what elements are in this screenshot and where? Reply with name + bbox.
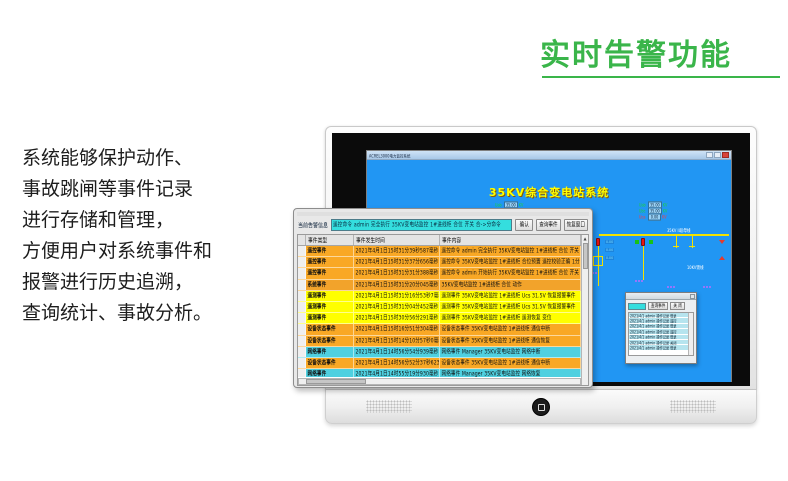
cell-event-content: 遥控命令 35KV变电站监控 1#进线柜 合位预置 遥控校验正确 1分 <box>440 257 581 267</box>
col3-label: 事件内容 <box>442 235 461 244</box>
busbar-label-2: 35KV II段母线 <box>667 228 690 235</box>
circuit-breaker-closed[interactable] <box>596 238 600 246</box>
cell-event-time: 2021年4月1日15时31分37分656毫秒 <box>354 257 440 267</box>
dialog-close-button[interactable]: 关 闭 <box>670 302 684 310</box>
column-header-content[interactable]: 事件内容 <box>440 235 581 245</box>
confirm-label: 确认 <box>520 221 529 229</box>
cell-event-time: 2021年4月1日15时31分31分388毫秒 <box>354 268 440 278</box>
operation-log-dialog: 查询事件 关 闭 2021/4/1 admin 操作记录 登录 2021/4/1… <box>625 292 697 364</box>
cell-event-type: 设备状态事件 <box>306 358 354 368</box>
alarm-toolbar-label: 当前告警信息 <box>298 221 328 230</box>
cell-event-time-text: 2021年4月1日15时31分04分452毫秒 <box>356 303 439 311</box>
cell-event-type-text: 遥测事件 <box>308 303 327 311</box>
dialog-query-button[interactable]: 查询事件 <box>648 302 668 310</box>
description-line: 方便用户对系统事件和 <box>22 236 290 267</box>
table-row[interactable]: 设备状态事件2021年4月1日14时56分52分37秒623毫秒设备状态事件 3… <box>298 358 581 369</box>
current-alarm-field[interactable]: 遥控命令 admin 完全执行 35KV变电站监控 1#进线柜 合位 开关 合-… <box>331 219 512 231</box>
cell-event-content: 遥测事件 35KV变电站监控 1#进线柜 遥测恢复 变位 <box>440 313 581 323</box>
cell-event-type-text: 设备状态事件 <box>308 337 336 345</box>
event-table-vscrollbar[interactable]: ▲ <box>581 235 588 385</box>
vscroll-thumb[interactable] <box>583 243 588 269</box>
cell-event-time: 2021年4月1日15时31分39秒587毫秒 <box>354 246 440 256</box>
busbar-section-2 <box>599 234 729 236</box>
monitor-bottom-bezel <box>325 390 757 424</box>
dialog-filter-input[interactable] <box>628 303 646 310</box>
cell-event-type: 遥测事件 <box>306 302 354 312</box>
dialog-query-label: 查询事件 <box>651 303 665 310</box>
switch-state-green <box>649 240 653 244</box>
confirm-button[interactable]: 确认 <box>515 219 533 231</box>
cell-event-time: 2021年4月1日15时31分20分045毫秒 <box>354 280 440 290</box>
event-table: 事件类型 事件发生时间 事件内容 遥控事件2021年4月1日15时31分39秒5… <box>297 234 589 386</box>
cell-event-content-text: 遥测事件 35KV变电站监控 1#进线柜 Ucs 31.5V 恢复报警事件 <box>442 303 576 311</box>
row-marker <box>298 369 306 377</box>
cell-event-type-text: 遥控事件 <box>308 258 327 266</box>
description-text: 系统能够保护动作、 事故跳闸等事件记录 进行存储和管理， 方便用户对系统事件和 … <box>22 143 290 329</box>
cell-event-type-text: 遥控事件 <box>308 247 327 255</box>
cell-event-type-text: 网络事件 <box>308 370 327 377</box>
alarm-event-window: 当前告警信息 遥控命令 admin 完全执行 35KV变电站监控 1#进线柜 合… <box>293 208 593 388</box>
description-line: 进行存储和管理， <box>22 205 290 236</box>
description-line: 事故跳闸等事件记录 <box>22 174 290 205</box>
home-button[interactable] <box>532 398 550 416</box>
tie-line <box>598 246 599 286</box>
cell-event-time: 2021年4月1日14时56分54分939毫秒 <box>354 347 440 357</box>
row-marker <box>298 257 306 267</box>
dialog-log-rows: 2021/4/1 admin 操作记录 登录 2021/4/1 admin 操作… <box>629 313 688 355</box>
circuit-breaker-closed[interactable] <box>641 238 645 246</box>
cell-event-content: 网络事件 Manager 35KV变电站监控 网络恢复 <box>440 369 581 377</box>
alarm-toolbar: 当前告警信息 遥控命令 admin 完全执行 35KV变电站监控 1#进线柜 合… <box>297 218 589 232</box>
restore-window-button[interactable]: 恢复窗口 <box>564 219 588 231</box>
row-marker <box>298 347 306 357</box>
cell-event-time: 2021年4月1日15时14分10分57秒0毫秒 <box>354 336 440 346</box>
restore-window-label: 恢复窗口 <box>567 221 585 229</box>
cell-event-time-text: 2021年4月1日15时16分51分304毫秒 <box>356 325 439 333</box>
column-header-marker <box>298 235 306 245</box>
voltage-value: 0.00 <box>648 213 661 221</box>
row-marker <box>298 324 306 334</box>
close-icon[interactable] <box>722 152 729 158</box>
row-marker <box>298 246 306 256</box>
table-row[interactable]: 网络事件2021年4月1日14时56分54分939毫秒网络事件 Manager … <box>298 347 581 358</box>
voltage-name: Uab <box>495 202 504 207</box>
voltage-group-right: Uab 35.00 KV Ubc 35.00 KV Uca 0.00 K <box>639 202 667 220</box>
cell-event-content: 设备状态事件 35KV变电站监控 1#进线柜 通信中断 <box>440 324 581 334</box>
description-line: 系统能够保护动作、 <box>22 143 290 174</box>
cell-event-type: 系统事件 <box>306 280 354 290</box>
diagram-title: 35KV综合变电站系统 <box>367 184 731 200</box>
scada-window-title: ACREL3000电力监控系统 <box>369 152 706 158</box>
cell-event-content-text: 遥控命令 admin 完全执行 35KV变电站监控 1#进线柜 合位 开关 <box>442 247 580 255</box>
table-row[interactable]: 遥测事件2021年4月1日15时31分04分452毫秒遥测事件 35KV变电站监… <box>298 302 581 313</box>
row-marker <box>298 302 306 312</box>
cell-event-content-text: 遥控命令 35KV变电站监控 1#进线柜 合位预置 遥控校验正确 1分 <box>442 258 580 266</box>
cell-event-content-text: 网络事件 Manager 35KV变电站监控 网络恢复 <box>442 370 541 377</box>
voltage-name: Uab <box>639 202 648 207</box>
cell-event-content: 设备状态事件 35KV变电站监控 1#进线柜 通信恢复 <box>440 336 581 346</box>
voltage-name: Uca <box>639 214 648 219</box>
cell-event-time: 2021年4月1日15时31分16分53秒7毫秒 <box>354 291 440 301</box>
cell-event-time-text: 2021年4月1日14时55分19分930毫秒 <box>356 370 439 377</box>
voltage-unit: KV <box>662 214 667 219</box>
busbar-label-3: 10KV馈线 <box>687 265 704 272</box>
slide-canvas: 实时告警功能 系统能够保护动作、 事故跳闸等事件记录 进行存储和管理， 方便用户… <box>0 0 788 481</box>
cell-event-content: 遥测事件 35KV变电站监控 1#进线柜 Ucs 31.5V 恢复报警事件 <box>440 302 581 312</box>
cell-event-time-text: 2021年4月1日15时31分20分045毫秒 <box>356 281 439 289</box>
ct-group-icon <box>703 286 711 288</box>
cell-event-type-text: 遥测事件 <box>308 292 327 300</box>
cell-event-time-text: 2021年4月1日15时31分37分656毫秒 <box>356 258 439 266</box>
cell-event-content-text: 遥测事件 35KV变电站监控 1#进线柜 遥测恢复 变位 <box>442 314 552 322</box>
dialog-close-icon[interactable] <box>690 294 695 299</box>
table-row[interactable]: 设备状态事件2021年4月1日15时16分51分304毫秒设备状态事件 35KV… <box>298 324 581 335</box>
cell-event-type-text: 设备状态事件 <box>308 325 336 333</box>
row-marker <box>298 268 306 278</box>
dialog-close-label: 关 闭 <box>673 303 681 310</box>
ct-group-icon <box>667 286 675 288</box>
window-controls[interactable] <box>706 152 729 158</box>
cell-event-time: 2021年4月1日15时31分04分452毫秒 <box>354 302 440 312</box>
cell-event-time-text: 2021年4月1日15时14分10分57秒0毫秒 <box>356 337 441 345</box>
voltage-unit: KV <box>663 208 668 213</box>
maximize-icon[interactable] <box>714 152 721 158</box>
feeder-line <box>676 234 677 248</box>
cell-event-time-text: 2021年4月1日15时31分16分53秒7毫秒 <box>356 292 441 300</box>
transformer-winding <box>593 256 603 266</box>
cell-event-type-text: 设备状态事件 <box>308 359 336 367</box>
meter-readout: 0.00 <box>605 256 614 260</box>
cell-event-type-text: 网络事件 <box>308 348 327 356</box>
cell-event-content: 遥控命令 admin 开始执行 35KV变电站监控 1#进线柜 合位 开关 <box>440 268 581 278</box>
cell-event-type: 网络事件 <box>306 347 354 357</box>
cell-event-time-text: 2021年4月1日14时56分52分37秒623毫秒 <box>356 359 441 367</box>
cell-event-type: 遥控事件 <box>306 268 354 278</box>
meter-readout: 0.00 <box>605 240 614 244</box>
cell-event-type: 设备状态事件 <box>306 336 354 346</box>
cell-event-type: 遥测事件 <box>306 291 354 301</box>
cell-event-content: 遥测事件 35KV变电站监控 1#进线柜 Ucs 31.5V 恢复报警事件 <box>440 291 581 301</box>
cell-event-content-text: 网络事件 Manager 35KV变电站监控 网络中断 <box>442 348 541 356</box>
table-row[interactable]: 遥控事件2021年4月1日15时31分31分388毫秒遥控命令 admin 开始… <box>298 268 581 279</box>
cell-event-type: 遥控事件 <box>306 246 354 256</box>
row-marker <box>298 358 306 368</box>
current-alarm-text: 遥控命令 admin 完全执行 35KV变电站监控 1#进线柜 合位 开关 合-… <box>333 221 501 229</box>
cell-event-content-text: 35KV变电站监控 1#进线柜 合位 动作 <box>442 281 522 289</box>
cell-event-content: 设备状态事件 35KV变电站监控 1#进线柜 通信中断 <box>440 358 581 368</box>
cell-event-time: 2021年4月1日15时16分51分304毫秒 <box>354 324 440 334</box>
cell-event-type-text: 遥测事件 <box>308 314 327 322</box>
cell-event-content-text: 设备状态事件 35KV变电站监控 1#进线柜 通信中断 <box>442 325 551 333</box>
cell-event-time-text: 2021年4月1日15时31分39秒587毫秒 <box>356 247 439 255</box>
cell-event-time-text: 2021年4月1日14时56分54分939毫秒 <box>356 348 439 356</box>
feeder-line <box>692 234 693 248</box>
cell-event-type: 遥测事件 <box>306 313 354 323</box>
table-row[interactable]: 网络事件2021年4月1日14时55分19分930毫秒网络事件 Manager … <box>298 369 581 377</box>
cell-event-time-text: 2021年4月1日15时30分56分291毫秒 <box>356 314 439 322</box>
table-row[interactable]: 系统事件2021年4月1日15时31分20分045毫秒35KV变电站监控 1#进… <box>298 280 581 291</box>
page-title: 实时告警功能 <box>540 30 732 74</box>
cell-event-content: 35KV变电站监控 1#进线柜 合位 动作 <box>440 280 581 290</box>
cell-event-type-text: 系统事件 <box>308 281 327 289</box>
cell-event-content-text: 设备状态事件 35KV变电站监控 1#进线柜 通信中断 <box>442 359 551 367</box>
column-header-time[interactable]: 事件发生时间 <box>354 235 440 245</box>
cell-event-type: 网络事件 <box>306 369 354 377</box>
table-row[interactable]: 遥控事件2021年4月1日15时31分37分656毫秒遥控命令 35KV变电站监… <box>298 257 581 268</box>
scroll-up-icon[interactable]: ▲ <box>583 235 586 242</box>
query-events-label: 查询事件 <box>539 221 557 229</box>
minimize-icon[interactable] <box>706 152 713 158</box>
dialog-scrollbar[interactable] <box>688 313 693 355</box>
voltage-unit: KV <box>663 202 668 207</box>
switch-state-green <box>635 240 639 244</box>
speaker-grille-right <box>670 400 716 413</box>
cell-event-content: 遥控命令 admin 完全执行 35KV变电站监控 1#进线柜 合位 开关 <box>440 246 581 256</box>
list-item[interactable]: 2021/4/1 admin 操作记录 登录 <box>629 345 688 350</box>
dialog-log-list: 2021/4/1 admin 操作记录 登录 2021/4/1 admin 操作… <box>628 312 694 356</box>
voltage-unit: KV <box>519 202 524 207</box>
event-table-hscrollbar[interactable] <box>298 378 581 385</box>
table-row[interactable]: 遥控事件2021年4月1日15时31分39秒587毫秒遥控命令 admin 完全… <box>298 246 581 257</box>
col1-label: 事件类型 <box>308 235 327 244</box>
speaker-grille-left <box>366 400 412 413</box>
cell-event-content: 网络事件 Manager 35KV变电站监控 网络中断 <box>440 347 581 357</box>
table-row[interactable]: 遥测事件2021年4月1日15时31分16分53秒7毫秒遥测事件 35KV变电站… <box>298 291 581 302</box>
voltage-name: Ubc <box>639 208 648 213</box>
col2-label: 事件发生时间 <box>356 235 385 244</box>
event-table-rows: 遥控事件2021年4月1日15时31分39秒587毫秒遥控命令 admin 完全… <box>298 246 581 377</box>
table-row[interactable]: 设备状态事件2021年4月1日15时14分10分57秒0毫秒设备状态事件 35K… <box>298 336 581 347</box>
cell-event-type-text: 遥控事件 <box>308 270 327 278</box>
meter-readout: 0.00 <box>605 248 614 252</box>
event-table-body-wrap: 事件类型 事件发生时间 事件内容 遥控事件2021年4月1日15时31分39秒5… <box>298 235 581 385</box>
cell-event-time-text: 2021年4月1日15时31分31分388毫秒 <box>356 270 439 278</box>
capacitor-bank-icon <box>635 280 643 282</box>
feeder-marker-triangle <box>719 240 725 244</box>
hscroll-thumb[interactable] <box>306 379 366 384</box>
row-marker <box>298 280 306 290</box>
feeder-line <box>643 246 644 280</box>
row-marker <box>298 291 306 301</box>
cell-event-content-text: 遥控命令 admin 开始执行 35KV变电站监控 1#进线柜 合位 开关 <box>442 270 580 278</box>
alarm-window-titlebar[interactable] <box>297 212 589 216</box>
cell-event-type: 遥控事件 <box>306 257 354 267</box>
cell-event-type: 设备状态事件 <box>306 324 354 334</box>
cell-event-content-text: 设备状态事件 35KV变电站监控 1#进线柜 通信恢复 <box>442 337 551 345</box>
voltage-row: Uca 0.00 KV <box>639 214 667 220</box>
description-line: 查询统计、事故分析。 <box>22 298 290 329</box>
event-table-header: 事件类型 事件发生时间 事件内容 <box>298 235 581 246</box>
scada-titlebar[interactable]: ACREL3000电力监控系统 <box>367 151 731 160</box>
column-header-type[interactable]: 事件类型 <box>306 235 354 245</box>
cell-event-time: 2021年4月1日14时55分19分930毫秒 <box>354 369 440 377</box>
query-events-button[interactable]: 查询事件 <box>536 219 560 231</box>
row-marker <box>298 336 306 346</box>
cell-event-time: 2021年4月1日15时30分56分291毫秒 <box>354 313 440 323</box>
table-row[interactable]: 遥测事件2021年4月1日15时30分56分291毫秒遥测事件 35KV变电站监… <box>298 313 581 324</box>
dialog-titlebar[interactable] <box>626 293 696 300</box>
feeder-marker-triangle-up <box>719 256 725 260</box>
home-square-icon <box>538 404 545 411</box>
log-text: 2021/4/1 admin 操作记录 登录 <box>629 344 676 351</box>
title-underline <box>542 76 780 78</box>
cell-event-content-text: 遥测事件 35KV变电站监控 1#进线柜 Ucs 31.5V 恢复报警事件 <box>442 292 576 300</box>
cell-event-time: 2021年4月1日14时56分52分37秒623毫秒 <box>354 358 440 368</box>
row-marker <box>298 313 306 323</box>
description-line: 报警进行历史追溯， <box>22 267 290 298</box>
dialog-toolbar: 查询事件 关 闭 <box>626 300 696 312</box>
